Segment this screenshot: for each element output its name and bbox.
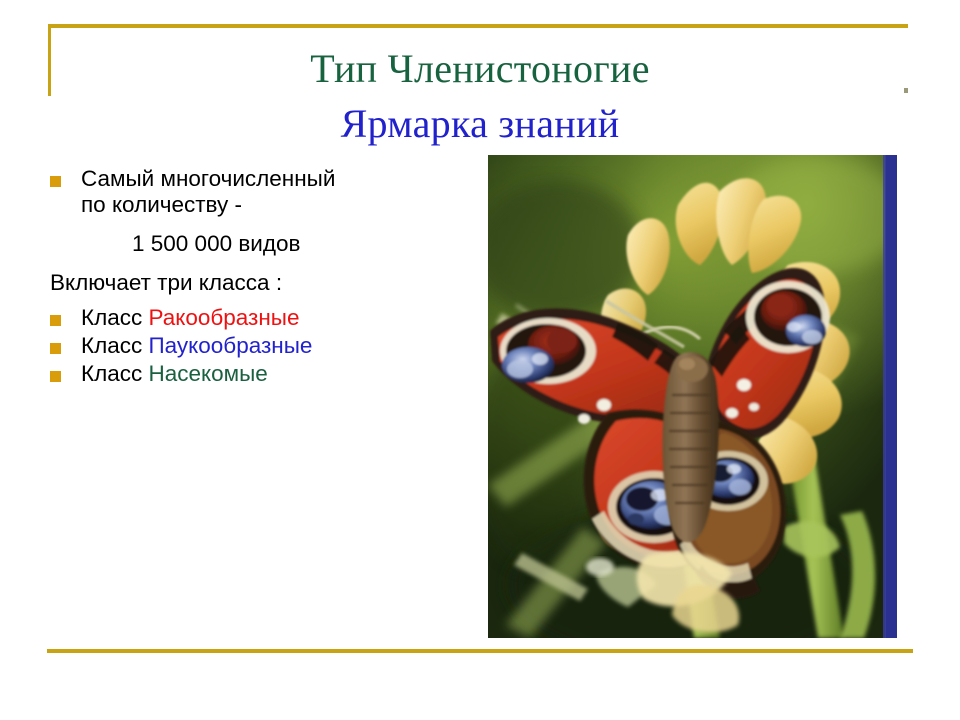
frame-bottom-rule	[47, 649, 913, 653]
frame-top-rule	[48, 24, 908, 28]
class-prefix: Класс	[81, 305, 149, 330]
list-item-text: Самый многочисленный по количеству -	[81, 166, 470, 218]
slide-title-block: Тип Членистоногие Ярмарка знаний	[0, 44, 960, 150]
spacer	[50, 298, 470, 305]
bullet-square-icon	[50, 371, 61, 382]
class-prefix: Класс	[81, 333, 149, 358]
species-count: 1 500 000 видов	[50, 229, 470, 259]
list-item-arachnids: Класс Паукообразные	[50, 333, 470, 359]
class-name-insects: Насекомые	[149, 361, 268, 386]
item1-line1: Самый многочисленный	[81, 166, 335, 191]
list-item: Самый многочисленный по количеству -	[50, 166, 470, 218]
content-list: Самый многочисленный по количеству - 1 5…	[50, 166, 470, 389]
class-name-arachnids: Паукообразные	[149, 333, 313, 358]
list-item-crustaceans: Класс Ракообразные	[50, 305, 470, 331]
list-item-text: Класс Паукообразные	[81, 333, 470, 359]
item1-line2: по количеству -	[81, 192, 242, 217]
list-item-text: Класс Насекомые	[81, 361, 470, 387]
classes-intro: Включает три класса :	[50, 267, 470, 298]
spacer	[50, 220, 470, 229]
butterfly-photo	[488, 155, 897, 638]
class-name-crustaceans: Ракообразные	[149, 305, 300, 330]
page-title: Тип Членистоногие	[0, 44, 960, 94]
list-item-insects: Класс Насекомые	[50, 361, 470, 387]
spacer	[50, 259, 470, 267]
page-subtitle: Ярмарка знаний	[0, 98, 960, 150]
list-item-text: Класс Ракообразные	[81, 305, 470, 331]
bullet-square-icon	[50, 176, 61, 187]
bullet-square-icon	[50, 343, 61, 354]
slide-canvas: Тип Членистоногие Ярмарка знаний Самый м…	[0, 0, 960, 720]
bullet-square-icon	[50, 315, 61, 326]
class-prefix: Класс	[81, 361, 149, 386]
